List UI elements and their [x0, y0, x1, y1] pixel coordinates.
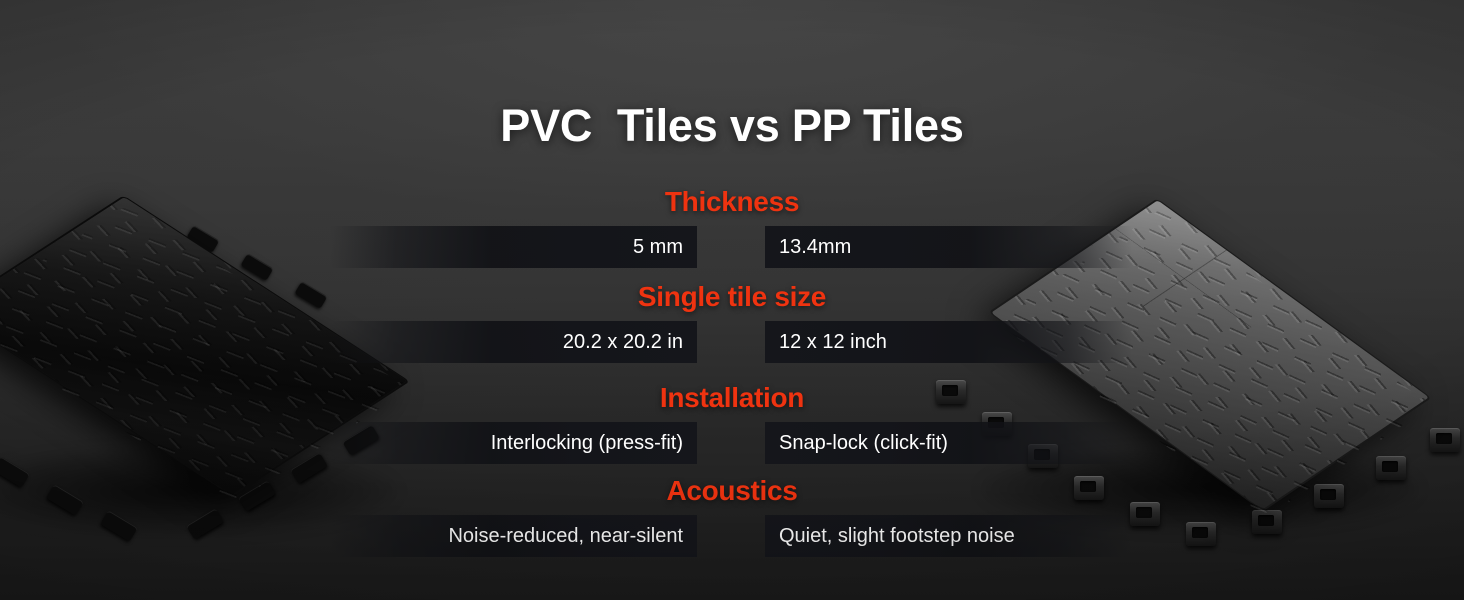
pp-value-single-tile-size: 12 x 12 inch [765, 321, 1132, 363]
comparison-infographic: PVC Tiles vs PP Tiles Thickness 5 mm 13.… [0, 0, 1464, 600]
pvc-value-installation: Interlocking (press-fit) [330, 422, 697, 464]
section-heading: Thickness [0, 186, 1464, 218]
comparison-section-thickness: Thickness 5 mm 13.4mm [0, 186, 1464, 268]
pp-value-installation: Snap-lock (click-fit) [765, 422, 1132, 464]
section-heading: Installation [0, 382, 1464, 414]
pvc-value-thickness: 5 mm [330, 226, 697, 268]
comparison-section-single-tile-size: Single tile size 20.2 x 20.2 in 12 x 12 … [0, 281, 1464, 363]
comparison-section-acoustics: Acoustics Noise-reduced, near-silent Qui… [0, 475, 1464, 557]
comparison-section-installation: Installation Interlocking (press-fit) Sn… [0, 382, 1464, 464]
section-rows: Noise-reduced, near-silent Quiet, slight… [0, 515, 1464, 557]
section-heading: Acoustics [0, 475, 1464, 507]
pp-value-thickness: 13.4mm [765, 226, 1132, 268]
section-rows: 5 mm 13.4mm [0, 226, 1464, 268]
section-heading: Single tile size [0, 281, 1464, 313]
section-rows: 20.2 x 20.2 in 12 x 12 inch [0, 321, 1464, 363]
pp-value-acoustics: Quiet, slight footstep noise [765, 515, 1132, 557]
section-rows: Interlocking (press-fit) Snap-lock (clic… [0, 422, 1464, 464]
page-title: PVC Tiles vs PP Tiles [0, 100, 1464, 152]
pvc-value-acoustics: Noise-reduced, near-silent [330, 515, 697, 557]
pvc-value-single-tile-size: 20.2 x 20.2 in [330, 321, 697, 363]
